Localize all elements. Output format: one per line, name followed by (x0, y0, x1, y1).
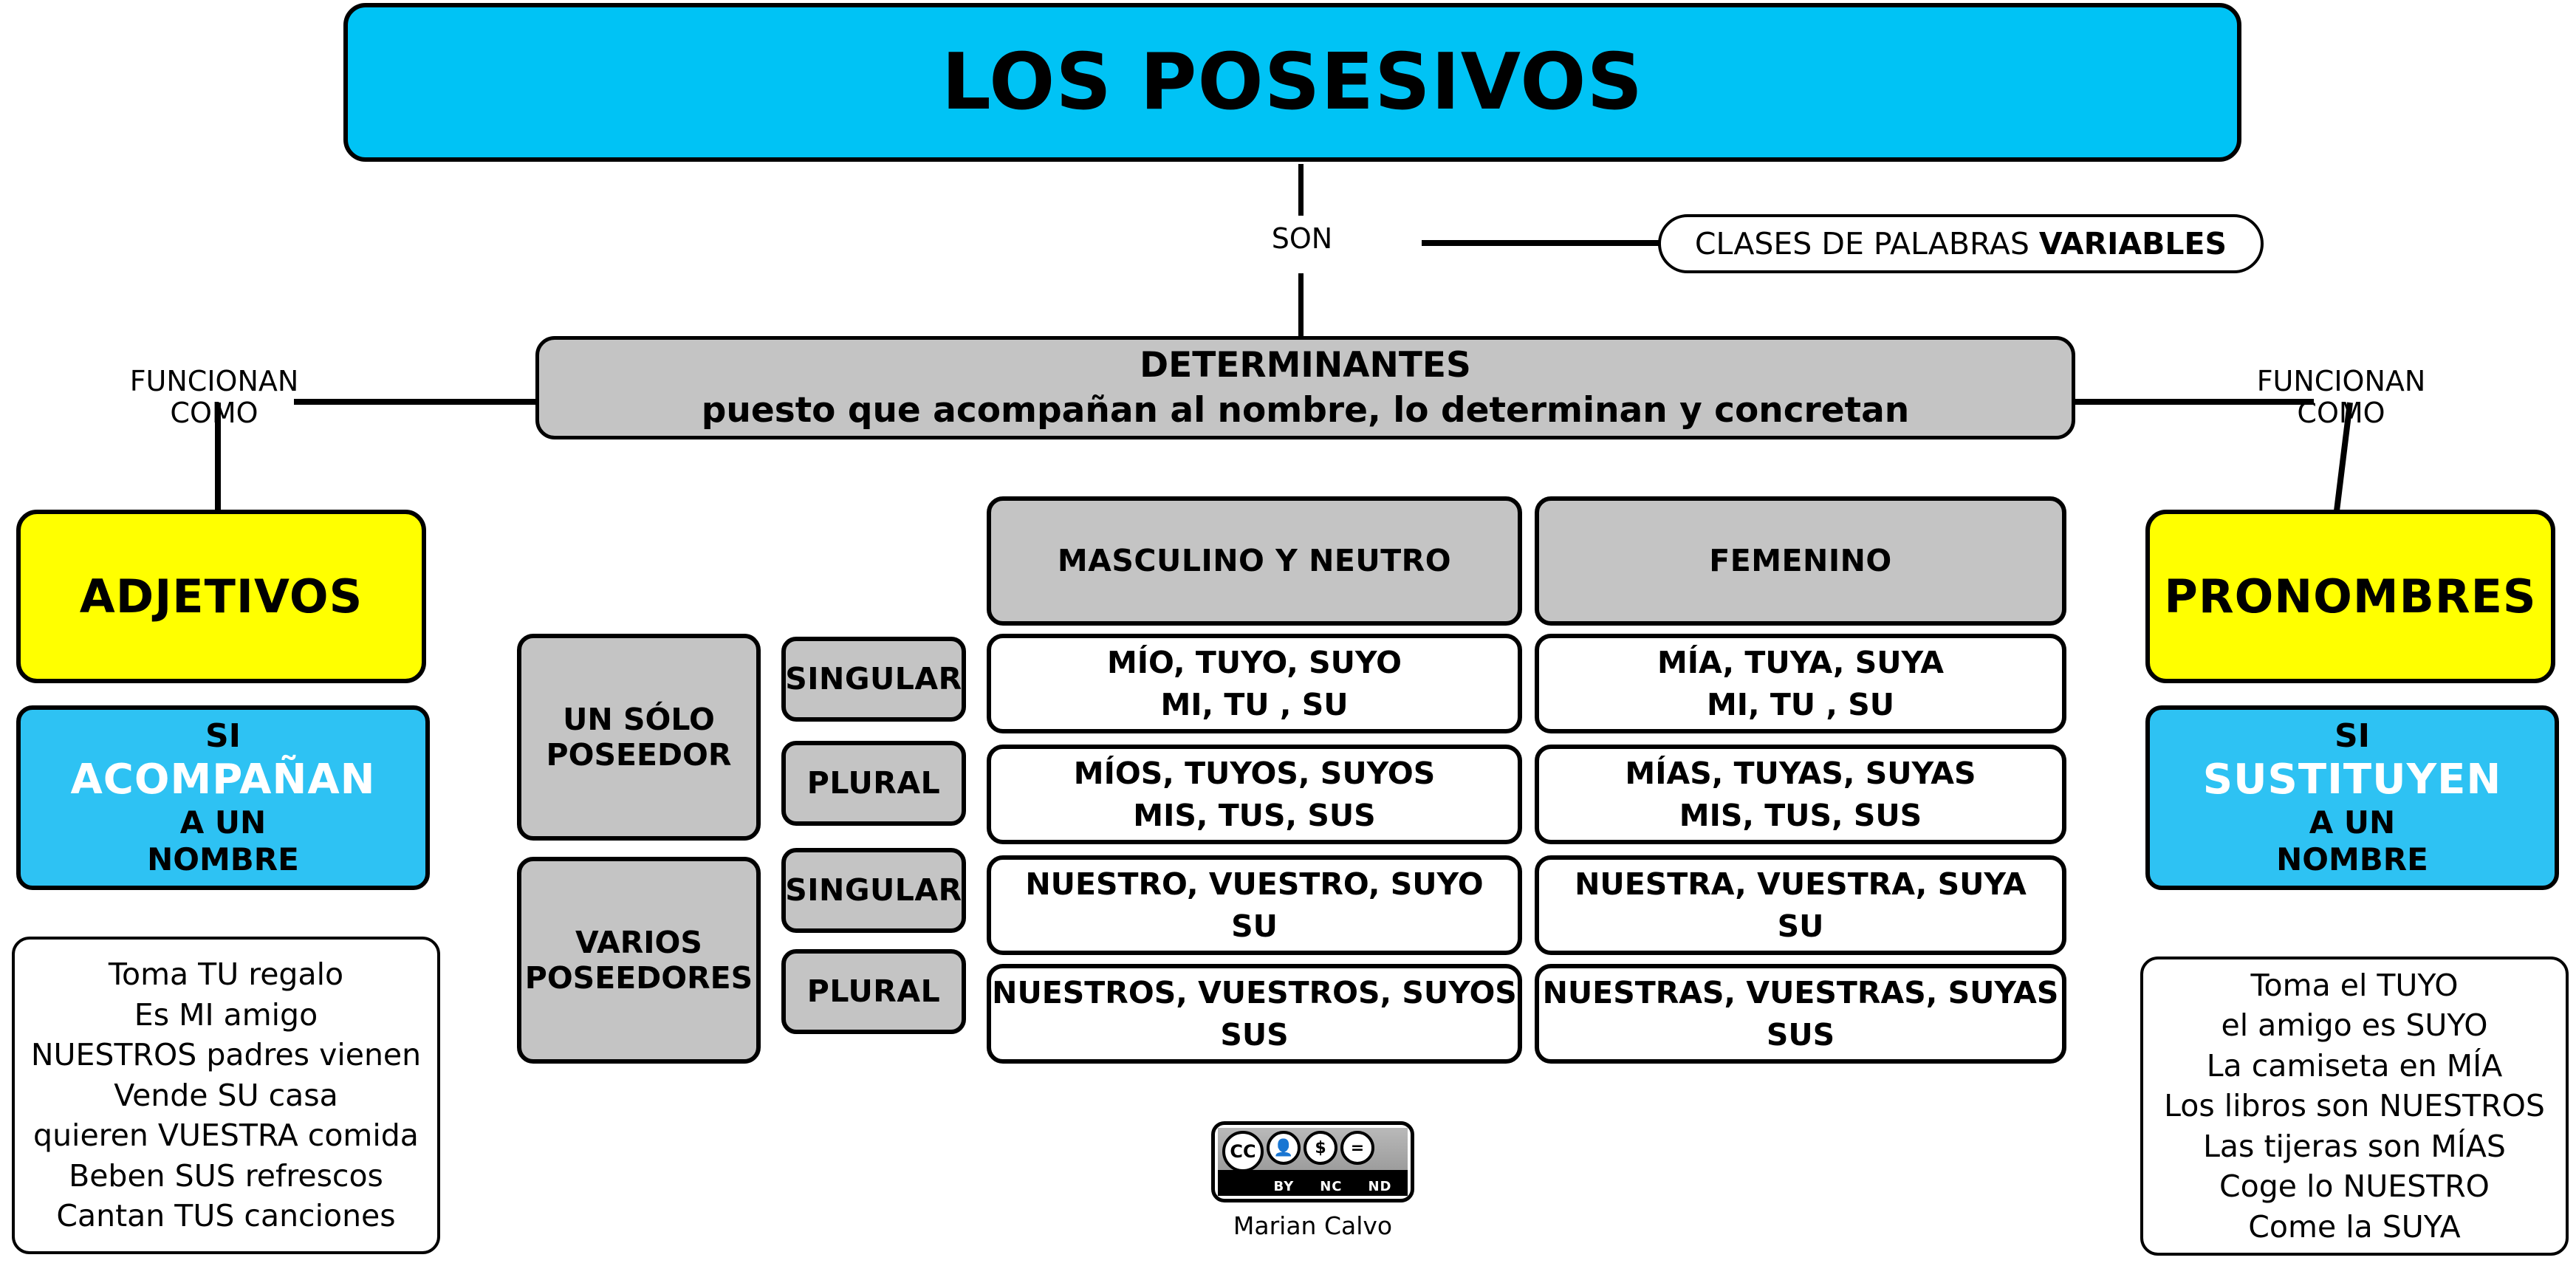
table-header-masculino-neutro: MASCULINO Y NEUTRO (987, 496, 1522, 626)
column-header-label: MASCULINO Y NEUTRO (1058, 543, 1451, 578)
cell-one-plural-masculino: MÍOS, TUYOS, SUYOS MIS, TUS, SUS (987, 745, 1522, 844)
number-label: SINGULAR (785, 661, 962, 697)
determinantes-heading: DETERMINANTES (1140, 345, 1471, 386)
list-item: el amigo es SUYO (2164, 1005, 2545, 1046)
cell-line2: MIS, TUS, SUS (1133, 798, 1375, 833)
connector-determinantes-to-left (294, 399, 538, 405)
connector-son-to-determinantes (1298, 273, 1304, 340)
map-title-box: LOS POSESIVOS (343, 3, 2241, 162)
list-item: Toma el TUYO (2164, 965, 2545, 1006)
list-item: NUESTROS padres vienen (31, 1035, 421, 1075)
cell-many-singular-masculino: NUESTRO, VUESTRO, SUYO SU (987, 855, 1522, 955)
cell-line1: NUESTROS, VUESTROS, SUYOS (992, 975, 1517, 1010)
list-item: Los libros son NUESTROS (2164, 1086, 2545, 1126)
connector-label-funcionan-como-right: FUNCIONAN COMO (2230, 366, 2452, 428)
page-title: LOS POSESIVOS (942, 37, 1643, 129)
cell-line2: MI, TU , SU (1160, 687, 1348, 722)
cell-line2: SUS (1767, 1017, 1835, 1053)
cell-many-plural-masculino: NUESTROS, VUESTROS, SUYOS SUS (987, 964, 1522, 1064)
cell-line1: MÍAS, TUYAS, SUYAS (1625, 756, 1976, 791)
funcionan-right-line2: COMO (2230, 397, 2452, 429)
list-item: Vende SU casa (31, 1075, 421, 1116)
pronombres-label: PRONOMBRES (2164, 569, 2536, 623)
cell-line1: MÍO, TUYO, SUYO (1107, 645, 1402, 680)
adjetivos-cond-line4: NOMBRE (147, 841, 299, 878)
cell-line2: MIS, TUS, SUS (1679, 798, 1922, 833)
row-group-label-line2: POSEEDOR (547, 737, 732, 773)
concept-map-canvas: LOS POSESIVOS SON CLASES DE PALABRAS VAR… (0, 0, 2576, 1266)
row-group-varios-poseedores: VARIOS POSEEDORES (517, 857, 761, 1064)
pronombres-box: PRONOMBRES (2145, 510, 2555, 683)
cell-line1: MÍOS, TUYOS, SUYOS (1074, 756, 1435, 791)
adjetivos-condition-box: SI ACOMPAÑAN A UN NOMBRE (16, 705, 430, 890)
funcionan-left-line2: COMO (103, 397, 325, 429)
cell-line1: NUESTRA, VUESTRA, SUYA (1575, 866, 2027, 902)
connector-label-funcionan-como-left: FUNCIONAN COMO (103, 366, 325, 428)
pronombres-condition-box: SI SUSTITUYEN A UN NOMBRE (2145, 705, 2559, 890)
variables-label: CLASES DE PALABRAS VARIABLES (1695, 226, 2227, 261)
cell-one-plural-femenino: MÍAS, TUYAS, SUYAS MIS, TUS, SUS (1535, 745, 2066, 844)
list-item: quieren VUESTRA comida (31, 1115, 421, 1156)
cc-nd-noderivatives-icon: = (1340, 1131, 1374, 1165)
creative-commons-badge-icon: CC 👤 $ = BY NC ND (1211, 1121, 1414, 1202)
cell-line2: MI, TU , SU (1707, 687, 1894, 722)
number-label-singular-un-solo: SINGULAR (781, 637, 966, 722)
list-item: Es MI amigo (31, 995, 421, 1036)
pronombres-examples-box: Toma el TUYO el amigo es SUYO La camiset… (2140, 957, 2569, 1256)
number-label-singular-varios: SINGULAR (781, 848, 966, 933)
cell-many-singular-femenino: NUESTRA, VUESTRA, SUYA SU (1535, 855, 2066, 955)
cell-line1: NUESTRAS, VUESTRAS, SUYAS (1543, 975, 2059, 1010)
number-label: SINGULAR (785, 872, 962, 908)
list-item: Beben SUS refrescos (31, 1156, 421, 1197)
license-block: CC 👤 $ = BY NC ND Marian Calvo (1211, 1121, 1414, 1240)
pronombres-cond-si: SI (2334, 717, 2370, 756)
list-item: Cantan TUS canciones (31, 1196, 421, 1236)
number-label: PLURAL (807, 765, 940, 801)
funcionan-left-line1: FUNCIONAN (103, 366, 325, 397)
pronombres-example-list: Toma el TUYO el amigo es SUYO La camiset… (2164, 965, 2545, 1248)
number-label-plural-un-solo: PLURAL (781, 741, 966, 826)
row-group-label-line1: VARIOS (575, 925, 702, 960)
cc-nc-nocommercial-icon: $ (1304, 1131, 1337, 1165)
row-group-label-line1: UN SÓLO (563, 702, 715, 737)
list-item: Las tijeras son MÍAS (2164, 1126, 2545, 1167)
determinantes-description: puesto que acompañan al nombre, lo deter… (702, 390, 1910, 431)
cell-many-plural-femenino: NUESTRAS, VUESTRAS, SUYAS SUS (1535, 964, 2066, 1064)
list-item: Coge lo NUESTRO (2164, 1166, 2545, 1207)
adjetivos-examples-box: Toma TU regalo Es MI amigo NUESTROS padr… (12, 937, 440, 1254)
number-label: PLURAL (807, 974, 940, 1009)
adjetivos-example-list: Toma TU regalo Es MI amigo NUESTROS padr… (31, 954, 421, 1236)
cell-line2: SU (1778, 909, 1824, 944)
cc-term-nd: ND (1368, 1179, 1391, 1194)
pronombres-cond-line4: NOMBRE (2276, 841, 2428, 878)
pronombres-cond-line3: A UN (2309, 804, 2395, 841)
license-author: Marian Calvo (1233, 1211, 1392, 1240)
pronombres-cond-verb: SUSTITUYEN (2203, 756, 2502, 804)
cell-line1: NUESTRO, VUESTRO, SUYO (1025, 866, 1483, 902)
cc-term-labels: BY NC ND (1261, 1179, 1405, 1194)
cc-term-nc: NC (1320, 1179, 1342, 1194)
list-item: Come la SUYA (2164, 1207, 2545, 1248)
column-header-label: FEMENINO (1709, 543, 1892, 578)
adjetivos-label: ADJETIVOS (80, 569, 363, 623)
list-item: Toma TU regalo (31, 954, 421, 995)
cc-term-by: BY (1273, 1179, 1294, 1194)
connector-to-variables-box (1422, 240, 1662, 246)
cell-line2: SUS (1220, 1017, 1288, 1053)
funcionan-right-line1: FUNCIONAN (2230, 366, 2452, 397)
cc-logo-icon: CC (1222, 1131, 1264, 1172)
adjetivos-box: ADJETIVOS (16, 510, 426, 683)
adjetivos-cond-verb: ACOMPAÑAN (70, 756, 375, 804)
number-label-plural-varios: PLURAL (781, 949, 966, 1034)
row-group-label-line2: POSEEDORES (525, 960, 753, 996)
clases-de-palabras-variables-box: CLASES DE PALABRAS VARIABLES (1658, 214, 2264, 273)
variables-emphasis: VARIABLES (2039, 226, 2227, 261)
connector-label-son: SON (1239, 223, 1365, 255)
list-item: La camiseta en MÍA (2164, 1046, 2545, 1087)
cc-by-person-icon: 👤 (1267, 1131, 1301, 1165)
cc-badge-inner: CC 👤 $ = BY NC ND (1218, 1128, 1408, 1196)
cell-line2: SU (1231, 909, 1278, 944)
variables-prefix: CLASES DE PALABRAS (1695, 226, 2039, 261)
cell-line1: MÍA, TUYA, SUYA (1657, 645, 1944, 680)
adjetivos-cond-line3: A UN (180, 804, 266, 841)
cell-one-singular-masculino: MÍO, TUYO, SUYO MI, TU , SU (987, 634, 1522, 733)
determinantes-box: DETERMINANTES puesto que acompañan al no… (535, 336, 2075, 439)
row-group-un-solo-poseedor: UN SÓLO POSEEDOR (517, 634, 761, 841)
table-header-femenino: FEMENINO (1535, 496, 2066, 626)
adjetivos-cond-si: SI (205, 717, 241, 756)
connector-title-to-son (1298, 164, 1304, 216)
cell-one-singular-femenino: MÍA, TUYA, SUYA MI, TU , SU (1535, 634, 2066, 733)
